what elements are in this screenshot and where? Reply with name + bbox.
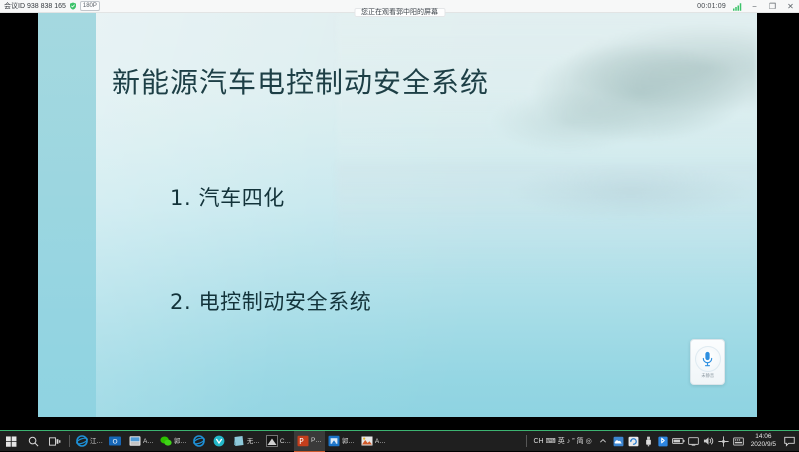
ime-keyboard-icon[interactable]: ⌨ xyxy=(546,437,556,446)
task-view-icon[interactable] xyxy=(44,431,66,451)
powerpoint-icon: P xyxy=(297,435,309,447)
taskbar-app-outlook[interactable]: O xyxy=(106,431,126,451)
slide-bullet-list: 1. 汽车四化 2. 电控制动安全系统 xyxy=(170,183,690,317)
ie-icon xyxy=(193,435,205,447)
taskbar-app-label: C… xyxy=(280,437,291,446)
notification-icon[interactable] xyxy=(781,431,797,452)
usb-icon[interactable] xyxy=(641,431,656,451)
microphone-status-label: 未静音 xyxy=(701,373,714,379)
onedrive-icon[interactable] xyxy=(611,431,626,451)
taskbar-app-notes[interactable]: 无… xyxy=(230,431,263,451)
taskbar-app-tencent-meeting[interactable] xyxy=(210,431,230,451)
taskbar-divider xyxy=(69,435,70,447)
system-tray: CH ⌨ 英 ♪ ” 简 ◎ xyxy=(523,431,799,452)
microphone-widget[interactable]: 未静音 xyxy=(690,339,725,385)
video-quality-badge[interactable]: 180P xyxy=(80,1,100,11)
powerpoint-slide[interactable]: 新能源汽车电控制动安全系统 1. 汽车四化 2. 电控制动安全系统 未静音 xyxy=(38,13,757,417)
ie-icon xyxy=(76,435,88,447)
blue-icon xyxy=(328,435,340,447)
taskbar-left-group: 江… O A… 郭… xyxy=(0,431,389,452)
network-icon[interactable] xyxy=(716,431,731,451)
taskbar-app-internet-explorer-2[interactable] xyxy=(190,431,210,451)
sync-icon[interactable] xyxy=(626,431,641,451)
slide-bullet-item: 1. 汽车四化 xyxy=(170,183,690,213)
minimize-button[interactable]: − xyxy=(749,1,760,12)
tray-divider xyxy=(526,435,527,447)
battery-icon[interactable] xyxy=(671,431,686,451)
window-controls-group: 00:01:09 − ❐ ✕ xyxy=(697,0,796,13)
taskbar-app-powerpoint[interactable]: P P… xyxy=(294,431,325,452)
taskbar-app-label: P… xyxy=(311,436,322,445)
share-notice-label: 您正在观看郭中阳的屏幕 xyxy=(354,8,445,17)
photo-icon xyxy=(361,435,373,447)
taskbar-app-file-explorer[interactable]: A… xyxy=(126,431,157,451)
keyboard-icon[interactable] xyxy=(731,431,746,451)
taskbar-app-label: 江… xyxy=(90,437,103,446)
taskbar-app-label: A… xyxy=(143,437,154,446)
taskbar-app-dark[interactable]: C… xyxy=(263,431,294,451)
taskbar-app-label: A… xyxy=(375,437,386,446)
start-icon[interactable] xyxy=(0,431,22,451)
meeting-timer: 00:01:09 xyxy=(697,3,726,10)
outlook-icon: O xyxy=(109,435,121,447)
clock-time: 14:06 xyxy=(755,433,771,441)
taskbar-app-wechat[interactable]: 郭… xyxy=(157,431,190,451)
search-icon[interactable] xyxy=(22,431,44,451)
windows-taskbar: 江… O A… 郭… xyxy=(0,430,799,451)
ime-language[interactable]: 英 xyxy=(558,437,565,446)
svg-text:P: P xyxy=(299,436,304,445)
ime-quote-icon[interactable]: ” xyxy=(572,437,574,446)
clock-date: 2020/9/5 xyxy=(751,441,776,449)
folder-icon xyxy=(129,435,141,447)
ime-punctuation-icon[interactable]: ♪ xyxy=(567,437,571,446)
taskbar-app-photo[interactable]: A… xyxy=(358,431,389,451)
ime-indicator[interactable]: CH ⌨ 英 ♪ ” 简 ◎ xyxy=(530,437,596,446)
ime-mode[interactable]: CH xyxy=(534,437,544,446)
meeting-top-bar: 会议ID 938 838 165 180P 您正在观看郭中阳的屏幕 00:01:… xyxy=(0,0,799,13)
screen-share-window: 会议ID 938 838 165 180P 您正在观看郭中阳的屏幕 00:01:… xyxy=(0,0,799,451)
maximize-button[interactable]: ❐ xyxy=(767,1,778,12)
dark-icon xyxy=(266,435,278,447)
taskbar-clock[interactable]: 14:06 2020/9/5 xyxy=(746,431,781,452)
taskbar-app-label: 无… xyxy=(247,437,260,446)
ime-simplified[interactable]: 简 xyxy=(577,437,584,446)
taskbar-app-label: 郭… xyxy=(342,437,355,446)
taskbar-app-blue[interactable]: 郭… xyxy=(325,431,358,451)
taskbar-app-internet-explorer[interactable]: 江… xyxy=(73,431,106,451)
slide-content: 新能源汽车电控制动安全系统 1. 汽车四化 2. 电控制动安全系统 xyxy=(38,13,757,417)
hidden-icons-arrow[interactable] xyxy=(596,431,611,451)
slide-title: 新能源汽车电控制动安全系统 xyxy=(112,61,489,101)
svg-text:O: O xyxy=(112,437,117,445)
shared-screen-area: 新能源汽车电控制动安全系统 1. 汽车四化 2. 电控制动安全系统 未静音 xyxy=(0,13,799,430)
microphone-icon[interactable] xyxy=(695,346,721,372)
share-notice-container: 您正在观看郭中阳的屏幕 xyxy=(354,1,445,19)
meeting-info-group: 会议ID 938 838 165 180P xyxy=(0,1,100,11)
display-icon[interactable] xyxy=(686,431,701,451)
shield-icon xyxy=(69,2,77,10)
close-button[interactable]: ✕ xyxy=(785,1,796,12)
taskbar-app-label: 郭… xyxy=(174,437,187,446)
wechat-icon xyxy=(160,435,172,447)
meeting-icon xyxy=(213,435,225,447)
ime-settings-icon[interactable]: ◎ xyxy=(586,437,592,446)
signal-bars-icon[interactable] xyxy=(733,3,742,11)
bluetooth-icon[interactable] xyxy=(656,431,671,451)
slide-bullet-item: 2. 电控制动安全系统 xyxy=(170,287,690,317)
meeting-id-label: 会议ID 938 838 165 xyxy=(4,2,66,11)
notes-icon xyxy=(233,435,245,447)
volume-icon[interactable] xyxy=(701,431,716,451)
